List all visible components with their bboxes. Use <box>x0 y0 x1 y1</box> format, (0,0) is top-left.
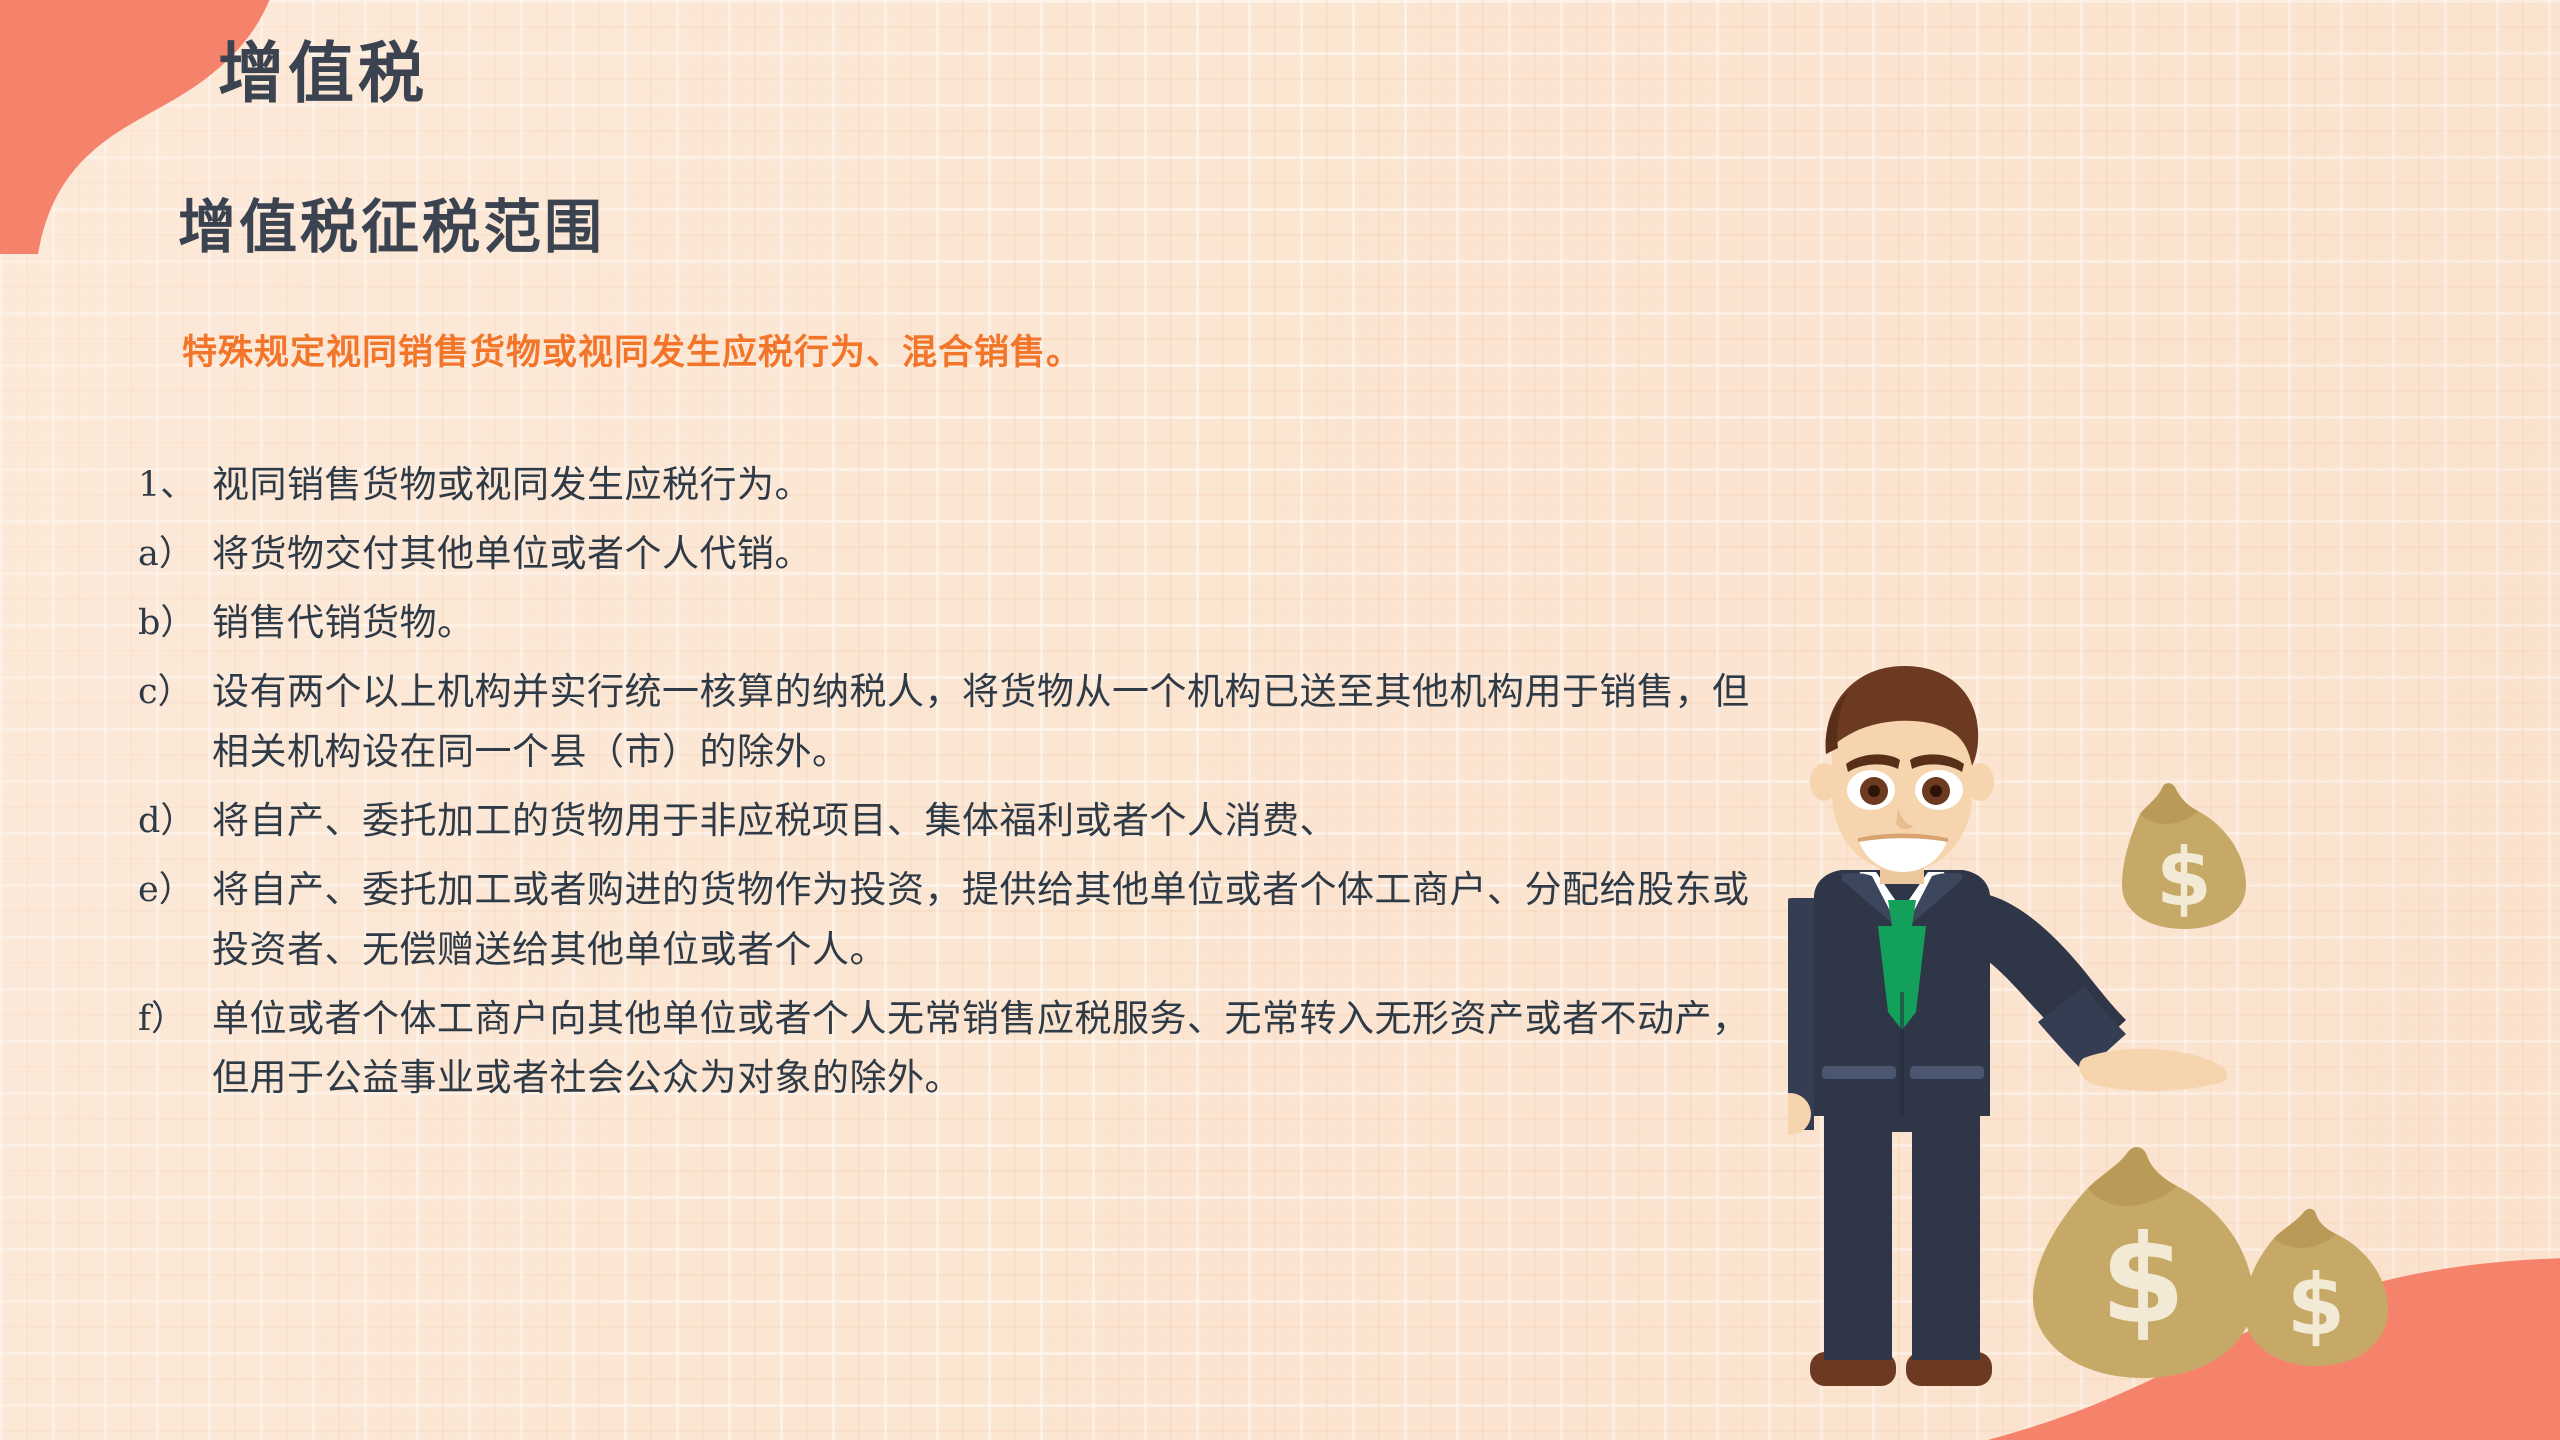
svg-text:$: $ <box>2156 831 2212 924</box>
money-bag-held: $ <box>2122 783 2246 929</box>
list-item: e） 将自产、委托加工或者购进的货物作为投资，提供给其他单位或者个体工商户、分配… <box>138 860 1818 980</box>
body-list: 1、 视同销售货物或视同发生应税行为。 a） 将货物交付其他单位或者个人代销。 … <box>138 455 1818 1117</box>
list-item: 1、 视同销售货物或视同发生应税行为。 <box>138 455 1818 515</box>
list-text: 单位或者个体工商户向其他单位或者个人无常销售应税服务、无常转入无形资产或者不动产… <box>212 989 1782 1109</box>
money-bag-small-right: $ <box>2244 1209 2388 1366</box>
list-item: f） 单位或者个体工商户向其他单位或者个人无常销售应税服务、无常转入无形资产或者… <box>138 989 1818 1109</box>
list-marker: d） <box>138 791 212 850</box>
list-text: 将自产、委托加工的货物用于非应税项目、集体福利或者个人消费、 <box>212 791 1782 851</box>
list-item: b） 销售代销货物。 <box>138 593 1818 653</box>
page-subtitle: 增值税征税范围 <box>178 196 605 260</box>
lead-statement: 特殊规定视同销售货物或视同发生应税行为、混合销售。 <box>182 332 1082 374</box>
list-text: 视同销售货物或视同发生应税行为。 <box>212 455 1782 515</box>
list-marker: b） <box>138 593 212 652</box>
list-text: 设有两个以上机构并实行统一核算的纳税人，将货物从一个机构已送至其他机构用于销售，… <box>212 662 1782 782</box>
svg-text:$: $ <box>2287 1256 2345 1354</box>
businessman-money-illustration: $ $ <box>1788 662 2428 1402</box>
list-marker: f） <box>138 989 212 1048</box>
list-text: 销售代销货物。 <box>212 593 1782 653</box>
list-marker: e） <box>138 860 212 919</box>
svg-text:$: $ <box>2101 1209 2186 1351</box>
list-text: 将自产、委托加工或者购进的货物作为投资，提供给其他单位或者个体工商户、分配给股东… <box>212 860 1782 980</box>
list-marker: a） <box>138 524 212 583</box>
list-item: a） 将货物交付其他单位或者个人代销。 <box>138 524 1818 584</box>
head <box>1826 666 1979 872</box>
suit-jacket <box>1814 870 1990 1116</box>
trousers <box>1824 1102 1980 1360</box>
list-marker: c） <box>138 662 212 721</box>
list-marker: 1、 <box>138 455 212 514</box>
list-item: d） 将自产、委托加工的货物用于非应税项目、集体福利或者个人消费、 <box>138 791 1818 851</box>
list-text: 将货物交付其他单位或者个人代销。 <box>212 524 1782 584</box>
slide-canvas: 增值税 增值税征税范围 特殊规定视同销售货物或视同发生应税行为、混合销售。 1、… <box>0 0 2560 1440</box>
money-bag-large: $ <box>2033 1147 2253 1378</box>
text-content: 增值税 增值税征税范围 特殊规定视同销售货物或视同发生应税行为、混合销售。 1、… <box>0 0 1900 1440</box>
page-title: 增值税 <box>218 38 428 111</box>
left-arm <box>1788 898 1814 1135</box>
list-item: c） 设有两个以上机构并实行统一核算的纳税人，将货物从一个机构已送至其他机构用于… <box>138 662 1818 782</box>
